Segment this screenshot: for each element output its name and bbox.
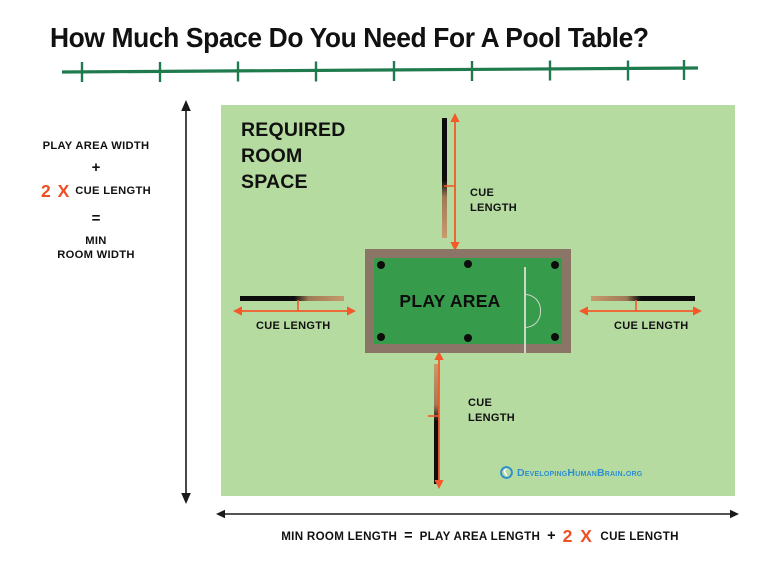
length-formula-term2: PLAY AREA LENGTH [420, 530, 541, 543]
min-room-width-measure-arrow [172, 98, 200, 506]
width-formula-result-line1: MIN [16, 234, 176, 249]
length-formula-equals: = [404, 528, 412, 544]
cue-length-label-right: CUE LENGTH [614, 320, 689, 332]
cue-length-label-bottom-line2: LENGTH [468, 411, 515, 426]
width-formula-equals: = [16, 211, 176, 226]
room-label-line1: REQUIRED [241, 117, 346, 143]
width-formula-cue-term: 2 X CUE LENGTH [16, 181, 176, 202]
cue-length-arrow-right [578, 300, 703, 322]
room-label-line2: ROOM [241, 143, 346, 169]
width-formula-plus: + [16, 160, 176, 175]
length-formula: MIN ROOM LENGTH = PLAY AREA LENGTH + 2 X… [215, 524, 745, 548]
cue-length-label-bottom-line1: CUE [468, 396, 515, 411]
cue-length-label-bottom: CUE LENGTH [468, 396, 515, 426]
cue-length-arrow-bottom [428, 350, 450, 490]
length-formula-term1: MIN ROOM LENGTH [281, 530, 397, 543]
cue-length-arrow-top [444, 112, 466, 252]
cue-length-label-top-line1: CUE [470, 186, 517, 201]
site-logo-text: DevelopingHumanBrain.org [517, 467, 642, 479]
length-formula-term3: CUE LENGTH [600, 530, 678, 543]
page-title: How Much Space Do You Need For A Pool Ta… [50, 22, 703, 54]
length-formula-plus: + [547, 528, 555, 544]
width-formula-multiplier: 2 X [41, 181, 70, 202]
width-formula: PLAY AREA WIDTH + 2 X CUE LENGTH = MIN R… [16, 140, 176, 262]
pool-table: PLAY AREA [365, 249, 571, 353]
room-label-line3: SPACE [241, 169, 346, 195]
width-formula-term2: CUE LENGTH [75, 185, 151, 197]
infographic-canvas: How Much Space Do You Need For A Pool Ta… [0, 0, 768, 561]
cue-length-label-top-line2: LENGTH [470, 201, 517, 216]
site-logo[interactable]: DevelopingHumanBrain.org [500, 466, 642, 479]
brain-circle-icon [500, 466, 513, 479]
cue-length-label-top: CUE LENGTH [470, 186, 517, 216]
cue-length-label-left: CUE LENGTH [256, 320, 331, 332]
measuring-tape-icon [60, 58, 700, 84]
required-room-space-label: REQUIRED ROOM SPACE [241, 117, 346, 195]
width-formula-term1: PLAY AREA WIDTH [16, 140, 176, 153]
min-room-length-measure-arrow [215, 505, 740, 523]
cue-length-arrow-left [232, 300, 357, 322]
width-formula-result-line2: ROOM WIDTH [16, 249, 176, 262]
play-area-label: PLAY AREA [365, 249, 571, 353]
length-formula-multiplier: 2 X [563, 526, 594, 547]
